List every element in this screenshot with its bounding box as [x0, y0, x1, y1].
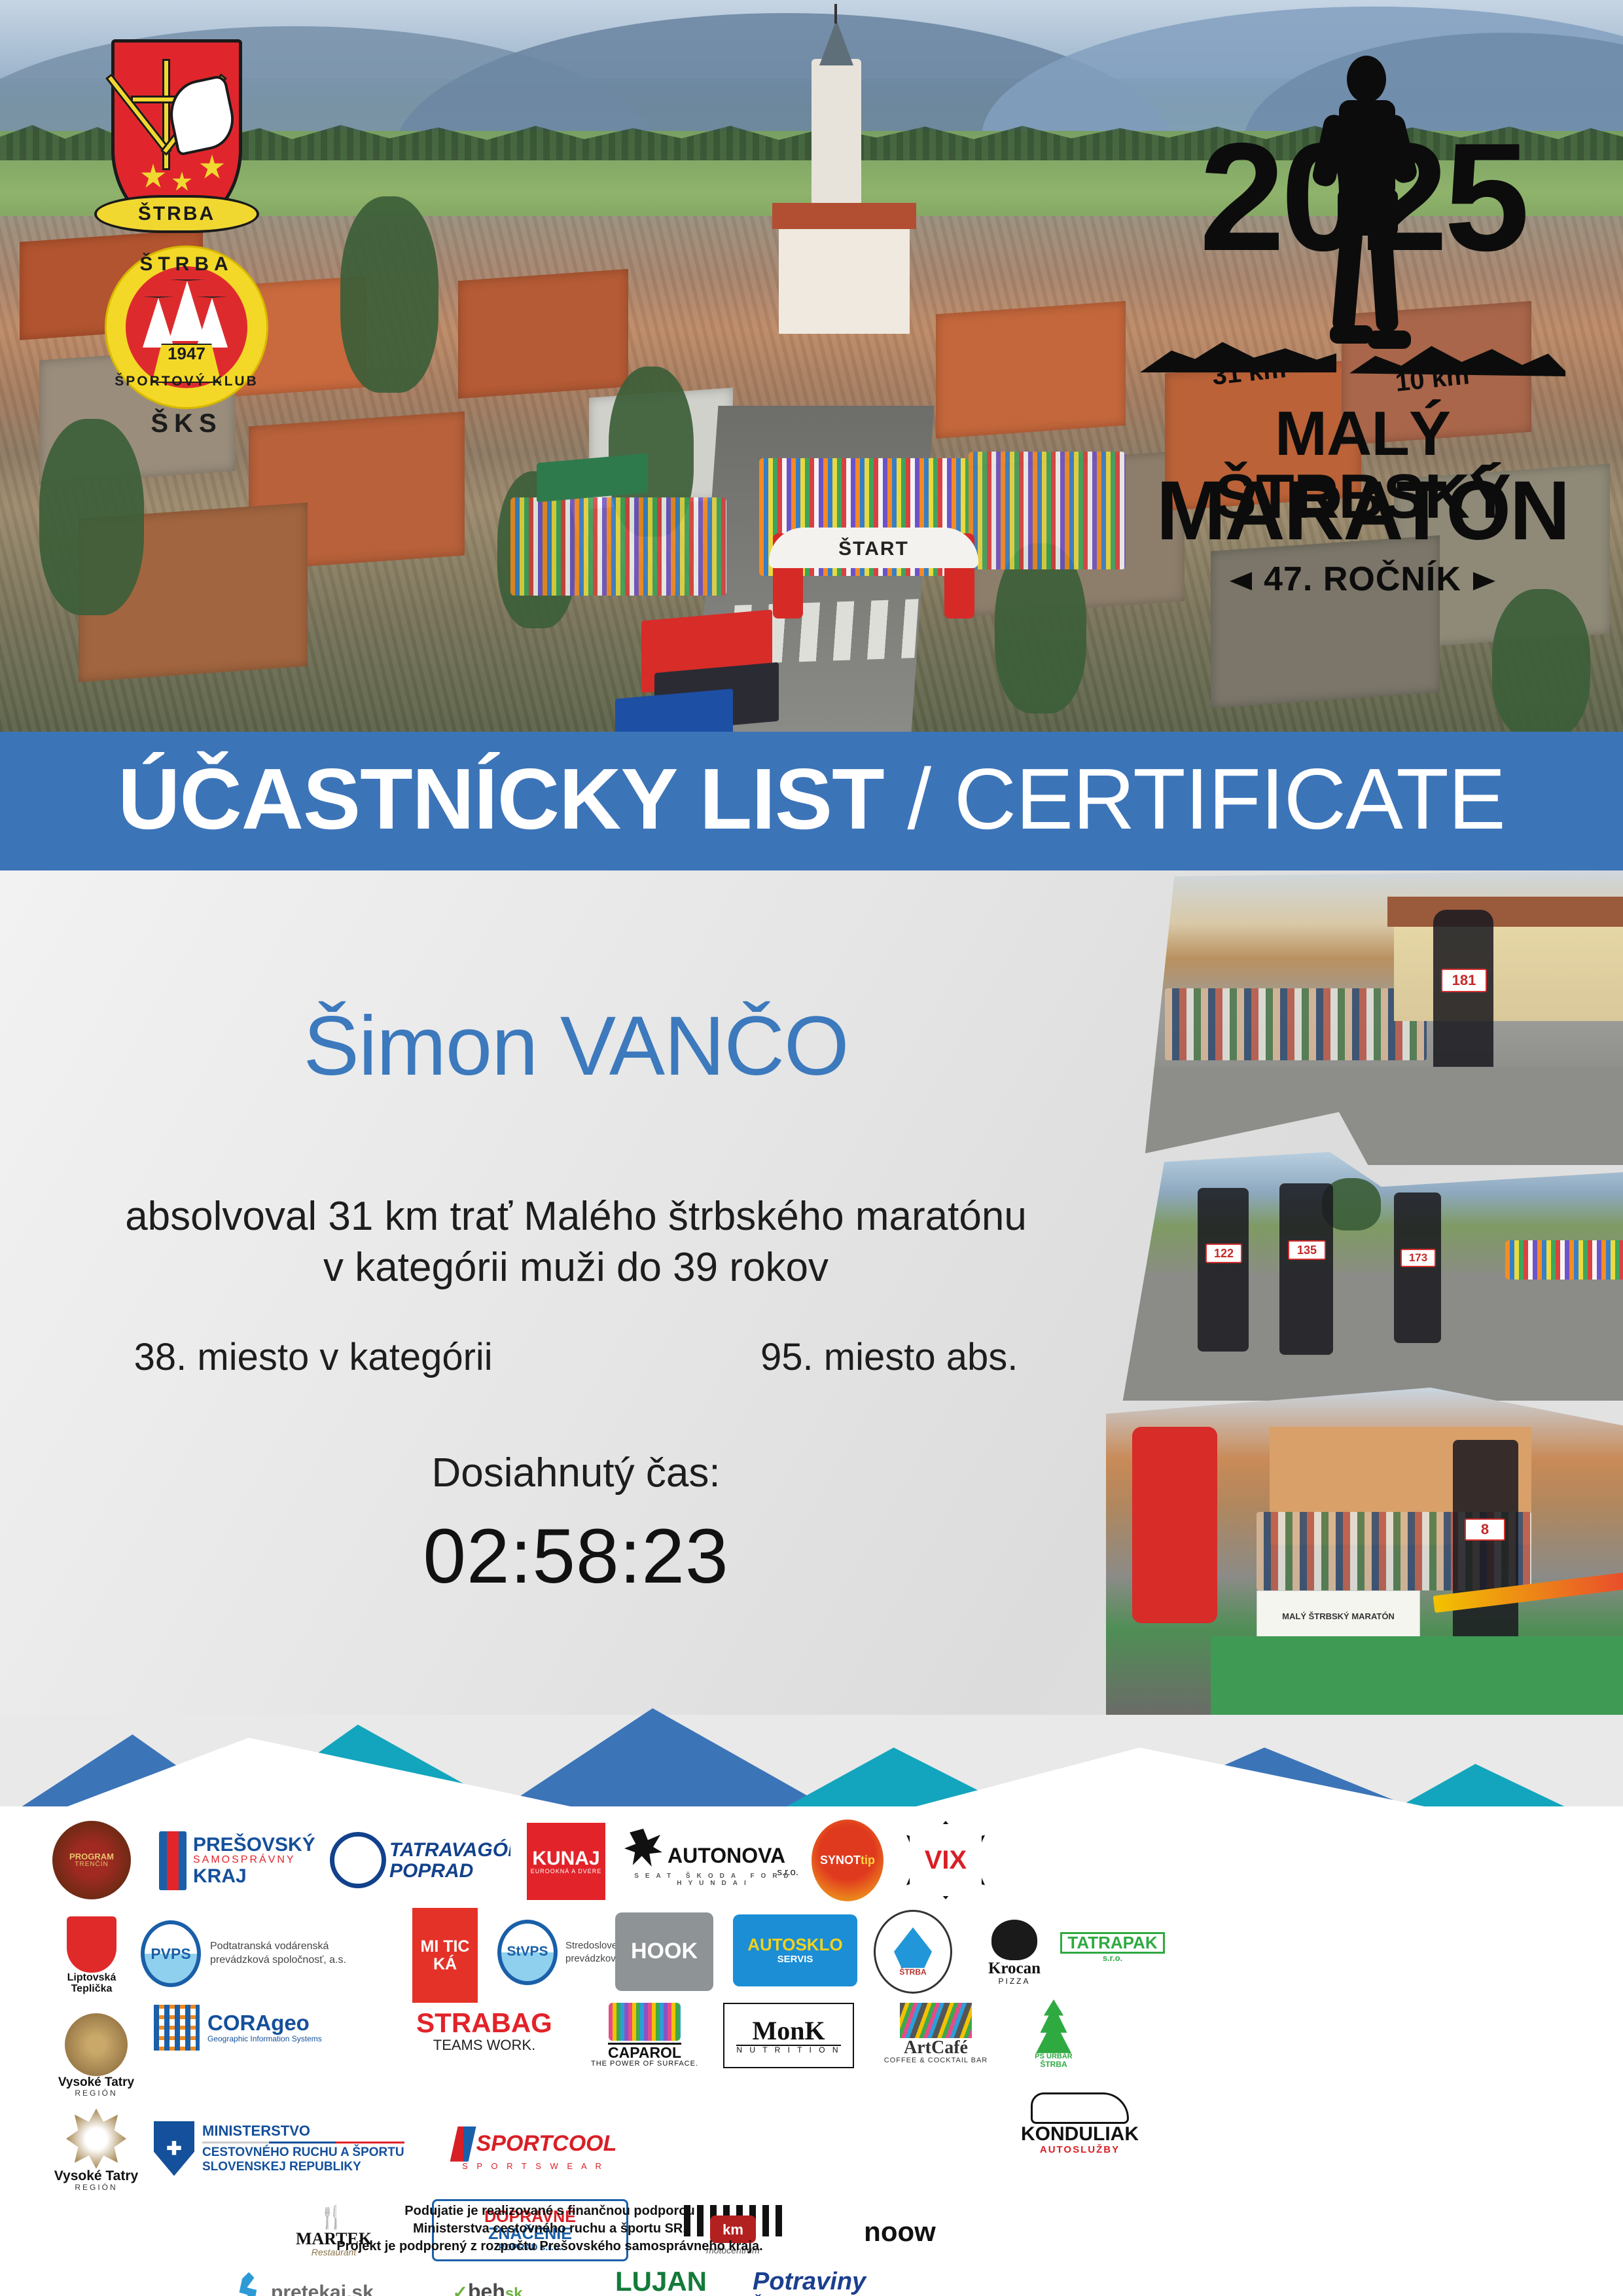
photo3-winner [1453, 1440, 1518, 1649]
tree [340, 196, 438, 393]
church-nave [779, 216, 910, 334]
sponsor-label: Vysoké Tatry [58, 2076, 134, 2089]
spectator-crowd-left [510, 497, 726, 596]
runner-leg-left [1332, 226, 1363, 332]
start-arch: ŠTART [769, 504, 978, 619]
photo3-inflatable-arch [1132, 1427, 1217, 1623]
funding-fine-print: Podujatie je realizované s finančnou pod… [39, 2202, 1060, 2255]
sponsor-sub: sk [505, 2286, 523, 2296]
photo2-runner [1279, 1183, 1333, 1355]
sponsor-sub: S P O R T S W E A R [462, 2162, 605, 2171]
photo2-runner [1394, 1193, 1441, 1343]
sponsor-sub: Teplička [71, 1984, 113, 1995]
sponsor-logo[interactable]: ✓ beh sk Web, ktorý vás rozbehne [412, 2268, 563, 2296]
page-title-en: CERTIFICATE [954, 751, 1505, 847]
club-abbr: ŠKS [105, 409, 268, 439]
sponsor-label: AUTONOVA [668, 1845, 785, 1867]
photo1-road [1145, 1067, 1623, 1165]
sponsor-label: Liptovská [67, 1973, 116, 1984]
roof-block [458, 269, 628, 399]
description-line-1: absolvoval 31 km trať Malého štrbského m… [0, 1191, 1152, 1242]
sponsor-logo[interactable]: PROGRAM TRENČÍN [52, 1821, 131, 1899]
sponsor-label: TATRAPAK [1060, 1932, 1164, 1954]
photo1-bib: 181 [1441, 969, 1487, 992]
runner-head [1347, 56, 1386, 103]
photo2-bib: 173 [1400, 1249, 1436, 1267]
sponsor-logo[interactable]: PVPS Podtatranská vodárenská prevádzková… [141, 1918, 376, 1990]
sponsor-label: MI TIC KÁ [412, 1938, 478, 1973]
sponsor-sub: ŠTRBA [899, 1968, 926, 1977]
sponsor-logo[interactable]: AUTONOVA s.r.o. SEAT ŠKODA FORD HYUNDAI [622, 1825, 798, 1898]
sponsor-logo[interactable]: Krocan PIZZA [965, 1910, 1063, 1995]
sponsor-logo[interactable]: HOOK [615, 1912, 713, 1991]
sponsor-label: VIX [925, 1846, 967, 1874]
photo-collage: 181 122 135 173 MALÝ ŠTRBSKÝ MARATÓN 8 [1106, 870, 1623, 1715]
sponsor-label: Potraviny [753, 2269, 866, 2295]
certificate-page: ŠTART ŠTRBA ŠT [0, 0, 1623, 2296]
sponsor-sub2: prevádzková spoločnosť, a.s. [210, 1954, 346, 1967]
collage-photo-finisher-woman: 181 [1145, 870, 1623, 1165]
photo3-race-banner: MALÝ ŠTRBSKÝ MARATÓN [1257, 1590, 1420, 1643]
page-title-separator: / [884, 751, 954, 847]
sponsor-sub: COFFEE & COCKTAIL BAR [884, 2057, 988, 2065]
sponsor-logo[interactable]: MonK N U T R I T I O N [723, 2003, 854, 2068]
sponsor-label: CORAgeo [207, 2012, 322, 2035]
collage-photo-finish-line: MALÝ ŠTRBSKÝ MARATÓN 8 [1106, 1388, 1623, 1715]
sponsor-label: PVPS [151, 1946, 190, 1962]
page-title: ÚČASTNÍCKY LIST / CERTIFICATE [0, 756, 1623, 842]
finish-time: 02:58:23 [0, 1512, 1152, 1601]
sponsor-logo[interactable]: SPORTCOOL S P O R T S W E A R [448, 2114, 618, 2183]
sponsor-logo[interactable]: TATRAVAGÓNKA POPRAD [327, 1829, 510, 1892]
photo3-bib: 8 [1465, 1518, 1505, 1541]
roof-block [936, 301, 1126, 439]
photo2-bib: 122 [1205, 1244, 1242, 1263]
sponsor-label: CAPAROL [608, 2043, 681, 2060]
sponsor-logo[interactable]: KONDULIAK AUTOSLUŽBY [1008, 2088, 1152, 2160]
sponsor-sub: EUROOKNÁ A DVERE [531, 1869, 602, 1874]
village-name: ŠTRBA [138, 203, 215, 225]
sponsor-logo[interactable]: VIX [906, 1821, 985, 1899]
club-founded-year: 1947 [105, 344, 268, 364]
sponsor-label: beh [468, 2281, 505, 2296]
sponsor-sub: SERVIS [777, 1954, 813, 1965]
sponsor-logo[interactable]: STRABAG TEAMS WORK. [402, 2000, 566, 2062]
tree [39, 419, 144, 615]
sponsor-label: StVPS [507, 1945, 548, 1959]
hero-photo-village: ŠTART ŠTRBA ŠT [0, 0, 1623, 733]
sponsor-label: ArtCafé [904, 2038, 968, 2057]
race-logo: 2025 31 km 10 km MALÝ ŠTRBSKÝ MARATÓN [1133, 36, 1592, 612]
photo2-bib: 135 [1288, 1240, 1326, 1260]
description-line-2: v kategórii muži do 39 rokov [0, 1242, 1152, 1293]
page-title-sk: ÚČASTNÍCKY LIST [118, 751, 884, 847]
sponsor-label: STRABAG [416, 2009, 552, 2037]
triangle-left-icon [1230, 572, 1252, 590]
absolute-placement: 95. miesto abs. [760, 1335, 1018, 1379]
sponsor-label: Vysoké Tatry [54, 2169, 138, 2183]
sponsor-logo[interactable]: Potraviny ŠERFEL [753, 2258, 916, 2296]
sponsor-label: TATRAVAGÓNKA [389, 1840, 510, 1861]
car-brand-row: SEAT ŠKODA FORD HYUNDAI [631, 1873, 798, 1887]
sponsor-sub: N U T R I T I O N [736, 2045, 840, 2054]
sponsor-logo[interactable]: ArtCafé COFFEE & COCKTAIL BAR [870, 1996, 1001, 2072]
sponsor-logo[interactable]: Liptovská Teplička [56, 1911, 128, 2000]
sponsor-label: SYNOT [820, 1854, 861, 1867]
race-name-line2: MARATÓN [1133, 469, 1592, 553]
sponsor-sub: SAMOSPRÁVNY [193, 1855, 296, 1866]
sponsor-sub: ŠTRBA [1040, 2060, 1067, 2069]
church-cross [834, 4, 837, 24]
sponsor-sub: POPRAD [389, 1861, 473, 1882]
sponsor-logo[interactable]: AUTOSKLO SERVIS [733, 1914, 857, 1986]
sponsor-logo[interactable]: TATRAPAK s.r.o. [1047, 1914, 1178, 1980]
sponsor-logo-grid: PROGRAM TRENČÍN PREŠOVSKÝ SAMOSPRÁVNY KR… [39, 1806, 1152, 2212]
sponsor-sub: THE POWER OF SURFACE. [591, 2060, 698, 2068]
sponsor-label: PREŠOVSKÝ [193, 1835, 315, 1856]
race-edition-text: 47. ROČNÍK [1264, 560, 1461, 598]
sponsor-logo[interactable]: Vysoké Tatry REGIÓN [54, 2104, 139, 2196]
mountain-peak-icon [143, 296, 174, 348]
fine-print-line-3: Projekt je podporený z rozpočtu Prešovsk… [39, 2238, 1060, 2255]
sponsor-logo[interactable]: KUNAJ EUROOKNÁ A DVERE [527, 1823, 605, 1900]
sponsor-label: SPORTCOOL [476, 2132, 617, 2156]
sponsor-sub: s.r.o. [1103, 1954, 1122, 1963]
church-roof [772, 203, 916, 229]
spectator-crowd-right [969, 452, 1126, 569]
sponsor-logo[interactable]: Vysoké Tatry REGIÓN [54, 2009, 139, 2101]
sponsor-logo[interactable]: pretekaj.sk [236, 2265, 386, 2296]
sponsor-sub: AUTOSLUŽBY [1040, 2145, 1120, 2155]
sponsor-logo[interactable]: PS URBÁR ŠTRBA [1014, 1995, 1093, 2073]
sponsor-label: MonK [752, 2017, 825, 2045]
sponsor-sub: REGIÓN [75, 2089, 117, 2098]
sponsor-sub: PIZZA [998, 1977, 1030, 1986]
sponsor-sub: tip [861, 1854, 875, 1867]
runner-leg-right [1369, 226, 1399, 332]
sponsor-label: KONDULIAK [1021, 2124, 1139, 2145]
strba-coat-of-arms: ŠTRBA [111, 39, 242, 229]
certificate-description: absolvoval 31 km trať Malého štrbského m… [0, 1191, 1152, 1293]
shield-ribbon: ŠTRBA [94, 195, 259, 233]
sponsor-sub: TEAMS WORK. [433, 2037, 535, 2053]
sponsor-sub: Geographic Information Systems [207, 2035, 322, 2043]
category-placement: 38. miesto v kategórii [134, 1335, 493, 1379]
photo1-spectators [1165, 988, 1427, 1060]
time-label: Dosiahnutý čas: [0, 1450, 1152, 1496]
club-bottom-text: ŠPORTOVÝ KLUB [105, 374, 268, 389]
sponsor-sub: REGIÓN [75, 2183, 117, 2192]
race-edition: 47. ROČNÍK [1133, 560, 1592, 599]
sponsor-label: AUTOSKLO [747, 1936, 842, 1954]
fine-print-line-1: Podujatie je realizované s finančnou pod… [39, 2202, 1060, 2220]
sponsor-logo[interactable]: SYNOTtip [811, 1820, 883, 1901]
sponsor-sub: CESTOVNÉHO RUCHU A ŠPORTU [202, 2145, 404, 2160]
sponsor-sub: Podtatranská vodárenská [210, 1940, 346, 1954]
sponsor-label: pretekaj.sk [271, 2282, 374, 2296]
mountain-peak-icon [196, 296, 228, 348]
sponsor-label: Krocan [988, 1960, 1041, 1977]
race-distances: 31 km 10 km [1133, 324, 1592, 403]
participant-name: Šimon VANČO [0, 998, 1152, 1094]
photo2-runner [1198, 1188, 1249, 1352]
sponsor-logo[interactable]: CAPAROL THE POWER OF SURFACE. [586, 2000, 704, 2072]
sponsor-sub2: KRAJ [193, 1866, 247, 1887]
start-label: ŠTART [769, 538, 978, 560]
runner-silhouette-icon [1314, 56, 1419, 363]
triangle-right-icon [1473, 572, 1495, 590]
sponsor-sub: TRENČÍN [75, 1861, 108, 1869]
sponsor-sub2: SLOVENSKEJ REPUBLIKY [202, 2160, 404, 2174]
photo2-road [1113, 1273, 1623, 1401]
sponsor-logo[interactable]: ŠTRBA [874, 1910, 952, 1994]
club-top-text: ŠTRBA [105, 253, 268, 276]
placement-row: 38. miesto v kategórii 95. miesto abs. [0, 1335, 1152, 1379]
sponsor-logo[interactable]: CORAgeo Geographic Information Systems [154, 1996, 370, 2058]
sponsor-label: HOOK [631, 1940, 698, 1964]
sponsor-logo[interactable]: PREŠOVSKÝ SAMOSPRÁVNY KRAJ [154, 1826, 317, 1895]
sport-club-emblem: ŠTRBA 1947 ŠPORTOVÝ KLUB ŠKS [105, 245, 268, 409]
church-spire [819, 20, 853, 65]
sponsor-label: KUNAJ [532, 1848, 599, 1869]
sponsor-logo[interactable]: LUJAN Plus s.r.o. [596, 2258, 726, 2296]
photo1-roof [1387, 897, 1623, 927]
sponsor-label: LUJAN [615, 2267, 707, 2296]
sponsor-logo[interactable]: MI TIC KÁ [412, 1908, 478, 2003]
sponsor-logo[interactable]: ✚ MINISTERSTVO CESTOVNÉHO RUCHU A ŠPORTU… [154, 2104, 429, 2193]
collage-photo-runners-group: 122 135 173 [1113, 1152, 1623, 1401]
sponsor-label: MINISTERSTVO [202, 2123, 404, 2140]
sponsor-label: PROGRAM [69, 1852, 114, 1861]
fine-print-line-2: Ministerstva cestovného ruchu a športu S… [39, 2220, 1060, 2238]
photo2-runner-pack [1505, 1240, 1623, 1280]
